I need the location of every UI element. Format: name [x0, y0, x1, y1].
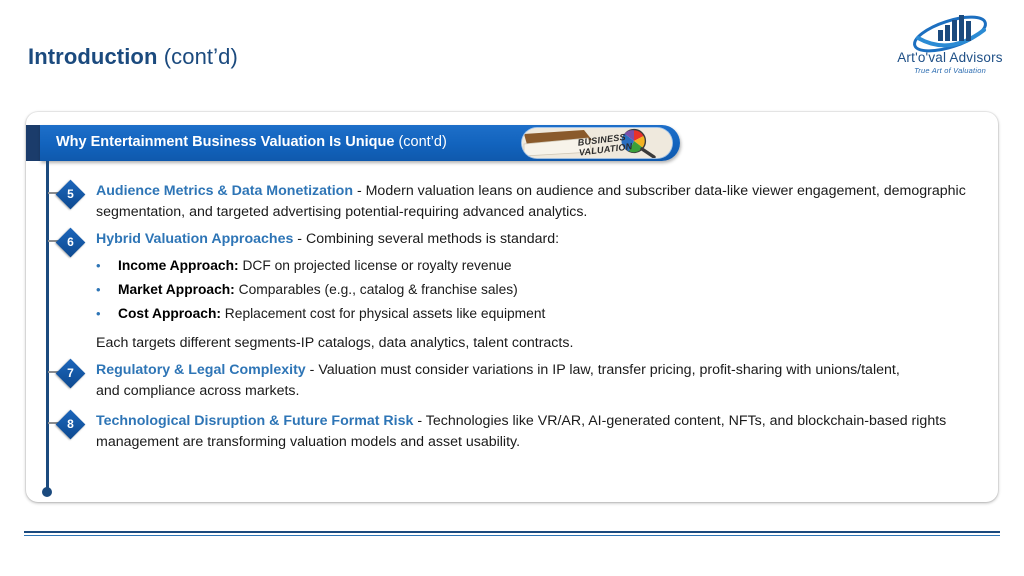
sub-item-text: Cost Approach: Replacement cost for phys… [118, 306, 545, 321]
item-lead: Audience Metrics & Data Monetization [96, 183, 353, 199]
sub-item-label: Cost Approach: [118, 306, 221, 321]
page-title-sub: (cont’d) [164, 44, 238, 69]
item-number-diamond-icon: 7 [56, 359, 86, 389]
item-number-diamond-icon: 6 [56, 228, 86, 258]
item-body: Regulatory & Legal Complexity - Valuatio… [96, 360, 920, 401]
page-title: Introduction (cont’d) [28, 44, 238, 70]
summary-note: Each targets different segments-IP catal… [96, 333, 573, 353]
logo-mark-icon [888, 8, 1012, 52]
logo-tagline: True Art of Valuation [888, 66, 1012, 75]
timeline-spine [46, 161, 49, 492]
item-dash: - [353, 183, 366, 199]
item-text: Combining several methods is standard: [306, 231, 559, 247]
item-number: 6 [60, 232, 81, 253]
bullet-dot-icon: • [96, 256, 101, 276]
item-number: 7 [60, 363, 81, 384]
sub-item-desc: Replacement cost for physical assets lik… [221, 306, 545, 321]
section-header-text: Why Entertainment Business Valuation Is … [56, 134, 447, 150]
list-item: 5 Audience Metrics & Data Monetization -… [60, 181, 990, 222]
sub-item-label: Market Approach: [118, 282, 235, 297]
sub-item-text: Income Approach: DCF on projected licens… [118, 258, 512, 273]
item-number: 5 [60, 184, 81, 205]
item-body: Technological Disruption & Future Format… [96, 411, 1005, 452]
footer-rule-primary [24, 531, 1000, 533]
section-header-sub: (cont’d) [398, 134, 446, 150]
sub-list-item: • Income Approach: DCF on projected lice… [96, 256, 512, 276]
list-item: 7 Regulatory & Legal Complexity - Valuat… [60, 360, 920, 401]
bullet-dot-icon: • [96, 304, 101, 324]
item-dash: - [413, 413, 425, 429]
list-item: 6 Hybrid Valuation Approaches - Combinin… [60, 229, 960, 250]
sub-item-desc: Comparables (e.g., catalog & franchise s… [235, 282, 518, 297]
company-logo: Art'o'val Advisors True Art of Valuation [888, 8, 1012, 82]
business-valuation-thumbnail-icon: BUSINESS VALUATION [522, 128, 672, 158]
item-body: Audience Metrics & Data Monetization - M… [96, 181, 990, 222]
list-item: 8 Technological Disruption & Future Form… [60, 411, 1005, 452]
item-lead: Technological Disruption & Future Format… [96, 413, 413, 429]
item-dash: - [293, 231, 306, 247]
header-left-tab [26, 125, 40, 161]
section-header-main: Why Entertainment Business Valuation Is … [56, 134, 394, 150]
item-number: 8 [60, 414, 81, 435]
sub-item-label: Income Approach: [118, 258, 239, 273]
item-number-diamond-icon: 8 [56, 410, 86, 440]
item-dash: - [306, 362, 319, 378]
item-lead: Regulatory & Legal Complexity [96, 362, 306, 378]
sub-list-item: • Market Approach: Comparables (e.g., ca… [96, 280, 518, 300]
footer-rule-secondary [24, 535, 1000, 536]
sub-list-item: • Cost Approach: Replacement cost for ph… [96, 304, 545, 324]
section-header-bar: Why Entertainment Business Valuation Is … [40, 125, 680, 161]
sub-item-desc: DCF on projected license or royalty reve… [239, 258, 512, 273]
page-title-main: Introduction [28, 44, 158, 69]
timeline-end-dot [42, 487, 52, 497]
bullet-dot-icon: • [96, 280, 101, 300]
item-lead: Hybrid Valuation Approaches [96, 231, 293, 247]
sub-item-text: Market Approach: Comparables (e.g., cata… [118, 282, 518, 297]
item-body: Hybrid Valuation Approaches - Combining … [96, 229, 960, 250]
item-number-diamond-icon: 5 [56, 180, 86, 210]
